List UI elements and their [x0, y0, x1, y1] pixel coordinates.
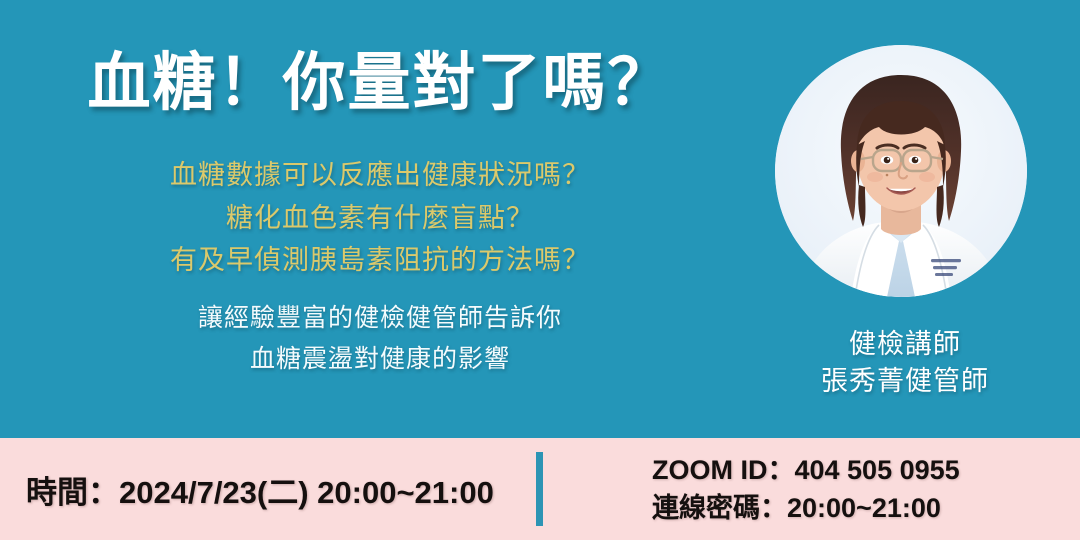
- speaker-block: 健檢講師 張秀菁健管師: [760, 0, 1080, 438]
- avatar: [775, 45, 1027, 297]
- webinar-poster: 血糖！你量對了嗎？ 血糖數據可以反應出健康狀況嗎？ 糖化血色素有什麼盲點？ 有及…: [0, 0, 1080, 540]
- question-line-1: 血糖數據可以反應出健康狀況嗎？: [0, 154, 760, 197]
- speaker-caption: 健檢講師 張秀菁健管師: [760, 326, 1050, 399]
- zoom-passcode: 連線密碼：20:00~21:00: [652, 489, 1072, 527]
- zoom-id: ZOOM ID：404 505 0955: [652, 451, 1072, 489]
- footer-divider: [536, 452, 543, 526]
- speaker-title: 健檢講師: [760, 326, 1050, 363]
- speaker-portrait-illustration: [775, 45, 1027, 297]
- question-line-3: 有及早偵測胰島素阻抗的方法嗎？: [0, 239, 760, 282]
- footer-time-group: 時間：2024/7/23(二) 20:00~21:00: [26, 438, 526, 540]
- lead-line-2: 血糖震盪對健康的影響: [0, 339, 760, 380]
- speaker-name: 張秀菁健管師: [760, 363, 1050, 400]
- poster-text-column: 血糖！你量對了嗎？ 血糖數據可以反應出健康狀況嗎？ 糖化血色素有什麼盲點？ 有及…: [0, 0, 760, 438]
- question-line-2: 糖化血色素有什麼盲點？: [0, 197, 760, 240]
- question-list: 血糖數據可以反應出健康狀況嗎？ 糖化血色素有什麼盲點？ 有及早偵測胰島素阻抗的方…: [0, 154, 760, 282]
- page-title: 血糖！你量對了嗎？: [0, 48, 760, 119]
- footer-bar: 時間：2024/7/23(二) 20:00~21:00 ZOOM ID：404 …: [0, 438, 1080, 540]
- event-time: 時間：2024/7/23(二) 20:00~21:00: [26, 467, 494, 512]
- footer-zoom-group: ZOOM ID：404 505 0955 連線密碼：20:00~21:00: [652, 438, 1072, 540]
- lead-line-1: 讓經驗豐富的健檢健管師告訴你: [0, 298, 760, 339]
- lead-text: 讓經驗豐富的健檢健管師告訴你 血糖震盪對健康的影響: [0, 298, 760, 379]
